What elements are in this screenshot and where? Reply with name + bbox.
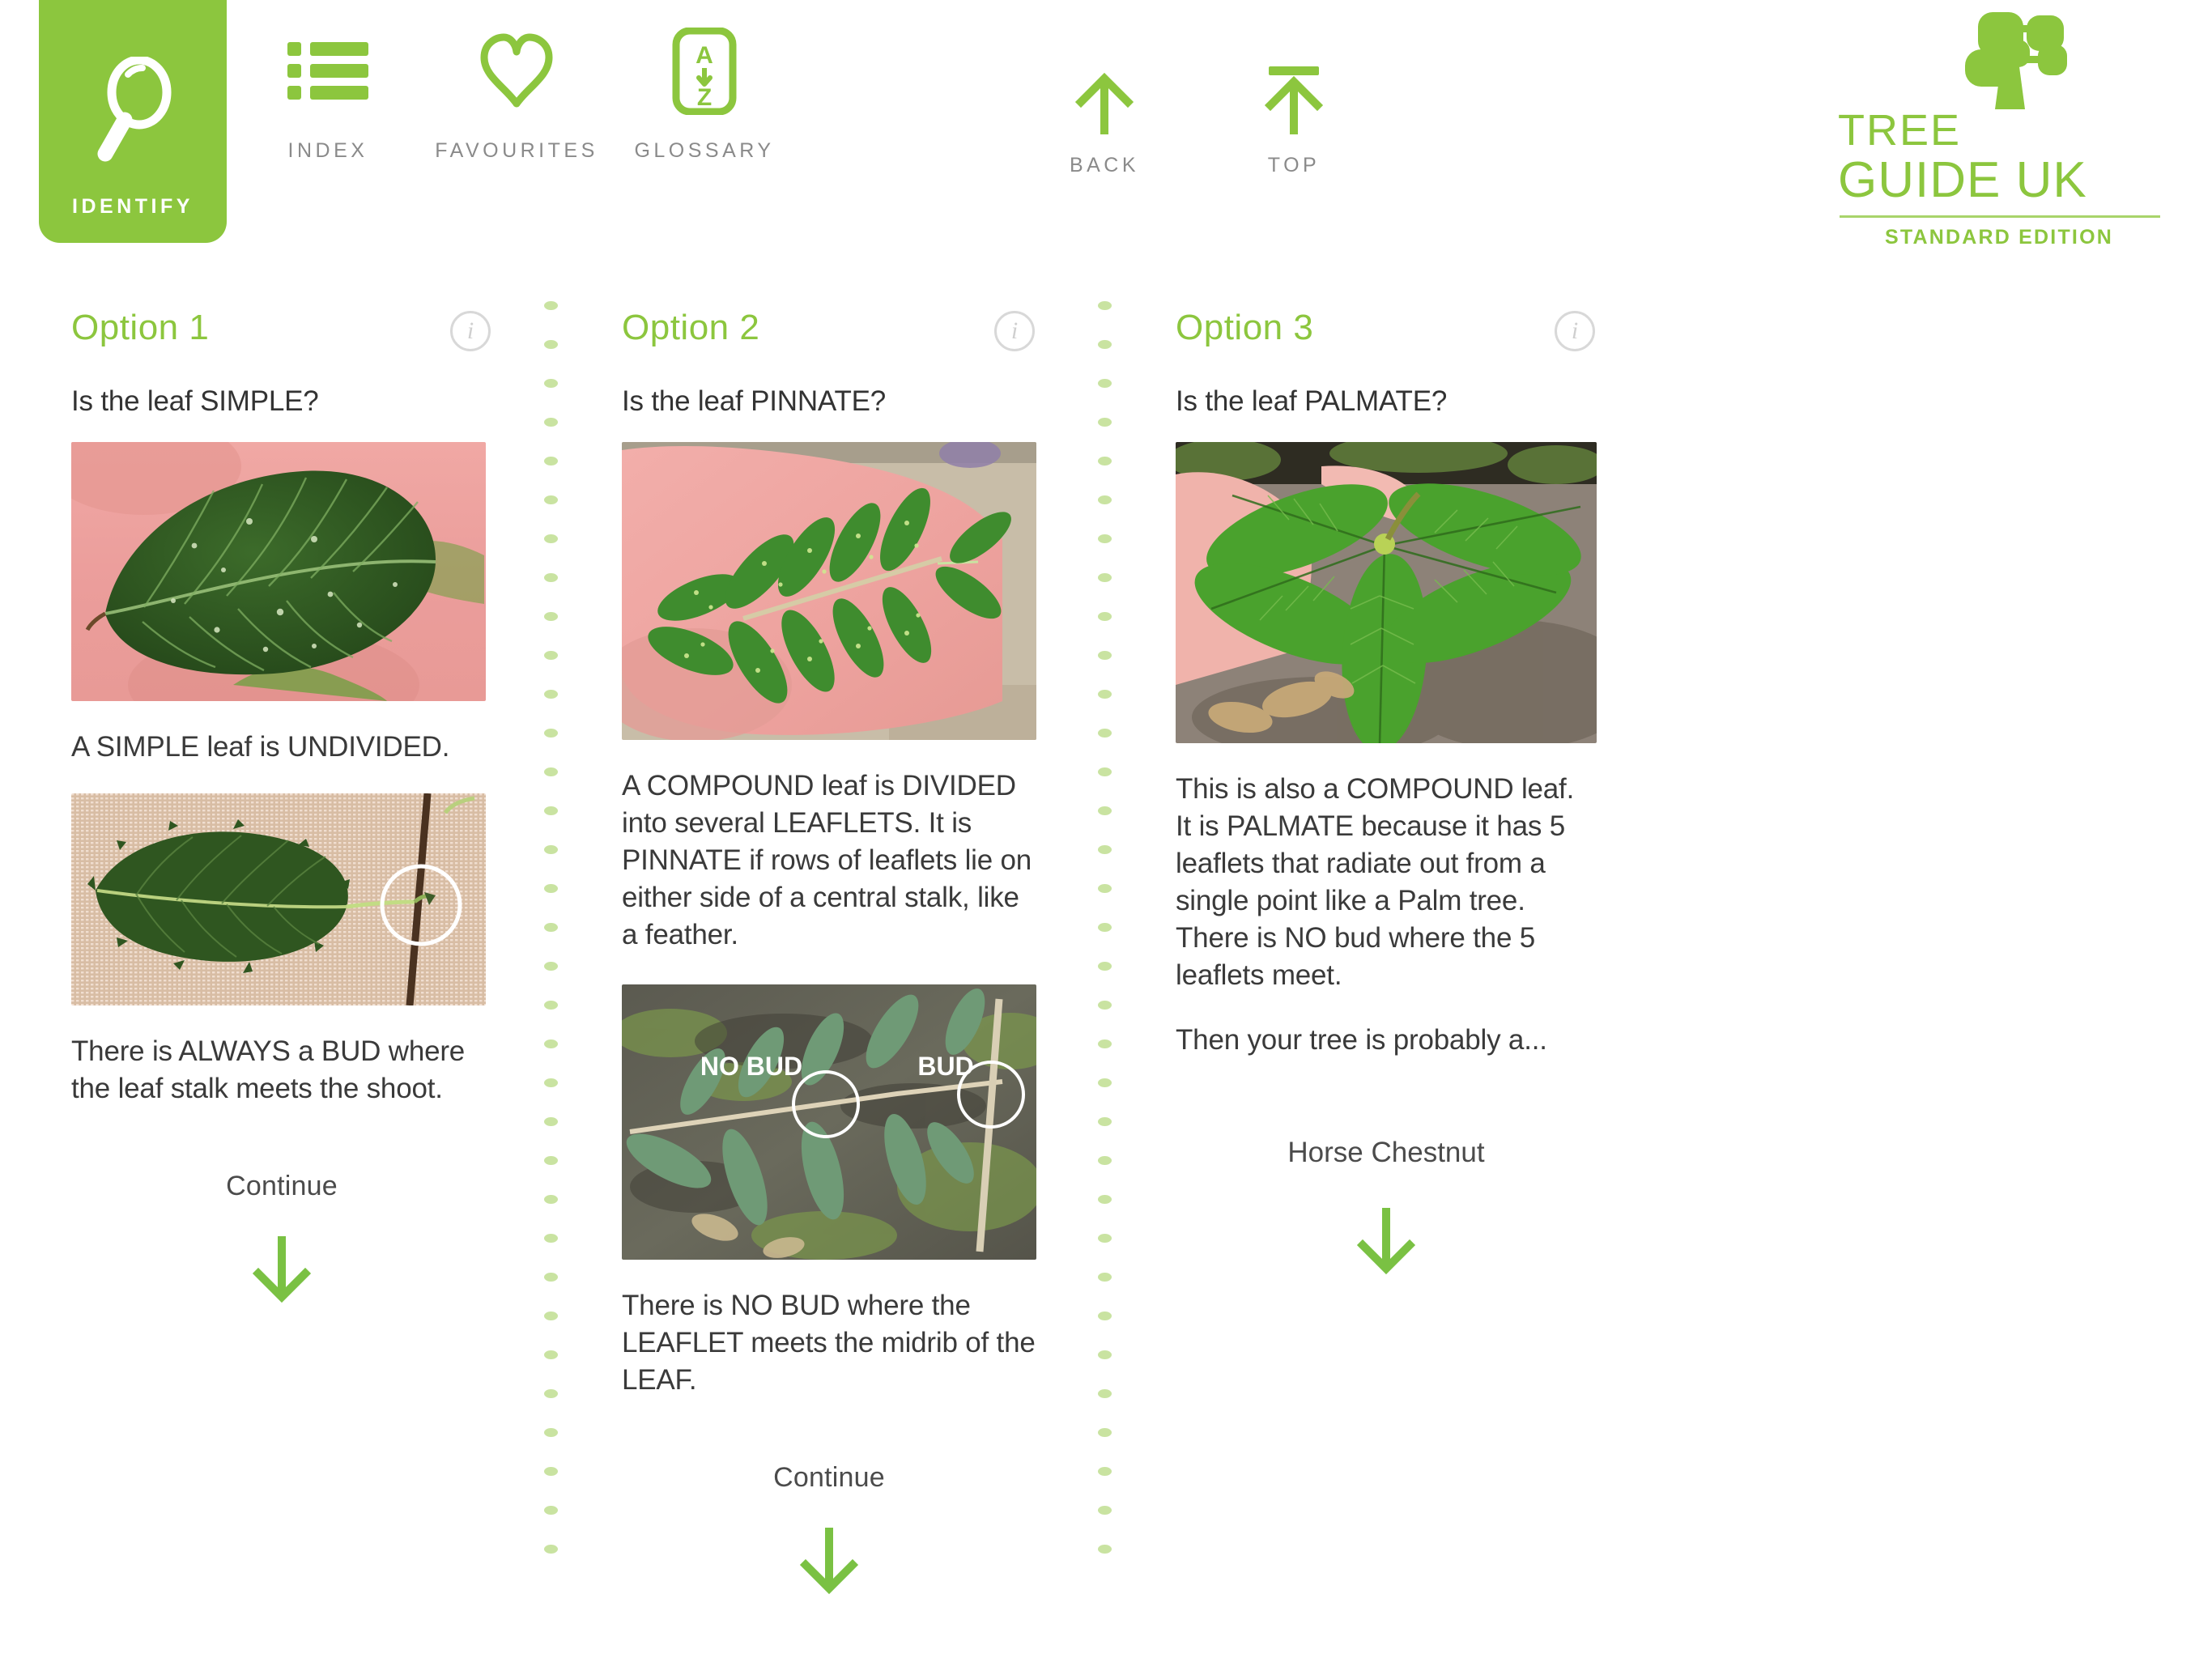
divider-dot [1098, 1350, 1112, 1359]
divider-dot [544, 573, 558, 582]
list-icon [287, 23, 368, 120]
divider-dot [1098, 379, 1112, 388]
option-3-caption-2: Then your tree is probably a... [1176, 1022, 1597, 1059]
divider-dot [544, 1156, 558, 1165]
divider-dot [544, 1234, 558, 1243]
info-icon[interactable]: i [450, 311, 491, 351]
option-2-continue-label: Continue [622, 1462, 1036, 1494]
divider-dot [544, 1312, 558, 1320]
divider-dot [1098, 457, 1112, 466]
divider-dot [544, 729, 558, 738]
nav-item-index-label: INDEX [288, 139, 368, 163]
a-z-icon: A Z [672, 23, 737, 120]
nav-button-top-label: TOP [1268, 154, 1320, 177]
option-3-result-name[interactable]: Horse Chestnut [1176, 1137, 1597, 1169]
leaf-stalk-bud-closeup-photo [71, 793, 486, 1005]
option-3-header: Option 3 i [1176, 308, 1597, 356]
divider-dot [1098, 301, 1112, 310]
option-3-caption-1: This is also a COMPOUND leaf. It is PALM… [1176, 771, 1597, 994]
option-1-title: Option 1 [71, 308, 209, 348]
info-icon[interactable]: i [994, 311, 1035, 351]
svg-text:A: A [696, 42, 713, 69]
pinnate-leaf-in-hand-photo [622, 442, 1036, 740]
divider-dot [544, 1001, 558, 1010]
palmate-leaf-in-hand-photo [1176, 442, 1597, 743]
divider-dot [1098, 923, 1112, 932]
divider-dot [1098, 1312, 1112, 1320]
divider-dot [1098, 806, 1112, 815]
option-3-column: Option 3 i Is the leaf PALMATE? [1176, 308, 1597, 1278]
option-2-caption-2: There is NO BUD where the LEAFLET meets … [622, 1287, 1036, 1399]
divider-dot [1098, 1506, 1112, 1515]
nav-item-glossary-label: GLOSSARY [634, 139, 774, 163]
divider-dot [544, 806, 558, 815]
divider-dot [544, 1428, 558, 1437]
nav-button-back[interactable]: BACK [1023, 50, 1185, 177]
divider-dot [1098, 612, 1112, 621]
divider-dot [1098, 651, 1112, 660]
option-2-question: Is the leaf PINNATE? [622, 384, 1036, 419]
divider-dot [544, 1273, 558, 1282]
nav-item-glossary[interactable]: A Z GLOSSARY [599, 23, 810, 163]
option-1-continue[interactable]: Continue [71, 1171, 492, 1306]
option-1-caption-2: There is ALWAYS a BUD where the leaf sta… [71, 1033, 492, 1107]
divider-dot [1098, 1001, 1112, 1010]
bud-photo-label: BUD [917, 1052, 973, 1081]
logo-divider [1840, 215, 2160, 218]
divider-dot [1098, 1156, 1112, 1165]
divider-dot [1098, 845, 1112, 854]
divider-dot [544, 651, 558, 660]
option-1-column: Option 1 i Is the leaf SIMPLE? [71, 308, 492, 1306]
divider-dot [1098, 1467, 1112, 1476]
divider-dot [544, 340, 558, 349]
option-1-caption-1: A SIMPLE leaf is UNDIVIDED. [71, 729, 492, 766]
divider-dot [1098, 767, 1112, 776]
divider-dot [1098, 1039, 1112, 1048]
divider-dot [1098, 884, 1112, 893]
arrow-down-icon [622, 1523, 1036, 1597]
option-2-column: Option 2 i Is the leaf PINNATE? [622, 308, 1036, 1597]
no-bud-photo-label: NO BUD [700, 1052, 802, 1081]
logo-line-2: GUIDE UK [1825, 154, 2173, 207]
simple-leaf-in-hand-photo [71, 442, 486, 701]
nav-button-back-label: BACK [1070, 154, 1139, 177]
divider-dot [544, 1545, 558, 1554]
divider-dot [544, 845, 558, 854]
divider-dot [544, 690, 558, 699]
nav-button-top[interactable]: TOP [1213, 50, 1375, 177]
divider-dot [1098, 1273, 1112, 1282]
divider-dot [1098, 729, 1112, 738]
option-2-continue[interactable]: Continue [622, 1462, 1036, 1597]
column-divider-2 [1098, 301, 1112, 1584]
divider-dot [544, 884, 558, 893]
svg-text:Z: Z [697, 84, 712, 111]
option-2-title: Option 2 [622, 308, 759, 348]
option-3-question: Is the leaf PALMATE? [1176, 384, 1597, 419]
option-1-question: Is the leaf SIMPLE? [71, 384, 492, 419]
divider-dot [544, 1389, 558, 1398]
divider-dot [1098, 573, 1112, 582]
pinnate-leaflet-no-bud-photo: NO BUD BUD [622, 984, 1036, 1260]
divider-dot [544, 418, 558, 427]
divider-dot [1098, 1195, 1112, 1204]
divider-dot [1098, 962, 1112, 971]
divider-dot [544, 457, 558, 466]
divider-dot [544, 1467, 558, 1476]
nav-tab-identify[interactable]: IDENTIFY [39, 0, 227, 243]
divider-dot [544, 1506, 558, 1515]
heart-icon [476, 23, 557, 120]
top-navigation-bar: IDENTIFY INDEX FAVOURITES [0, 0, 2212, 243]
nav-item-index[interactable]: INDEX [223, 23, 433, 163]
divider-dot [544, 301, 558, 310]
option-2-caption-1: A COMPOUND leaf is DIVIDED into several … [622, 767, 1036, 954]
nav-tab-identify-label: IDENTIFY [72, 195, 194, 219]
app-logo: TREE GUIDE UK STANDARD EDITION [1825, 8, 2173, 249]
divider-dot [544, 1195, 558, 1204]
logo-subtitle: STANDARD EDITION [1825, 226, 2173, 249]
divider-dot [1098, 340, 1112, 349]
option-3-title: Option 3 [1176, 308, 1313, 348]
divider-dot [544, 612, 558, 621]
divider-dot [544, 1350, 558, 1359]
info-icon[interactable]: i [1555, 311, 1595, 351]
option-1-header: Option 1 i [71, 308, 492, 356]
arrow-down-icon [71, 1231, 492, 1306]
nav-item-favourites-label: FAVOURITES [435, 139, 598, 163]
divider-dot [1098, 1428, 1112, 1437]
option-2-header: Option 2 i [622, 308, 1036, 356]
nav-item-favourites[interactable]: FAVOURITES [411, 23, 622, 163]
divider-dot [1098, 1117, 1112, 1126]
divider-dot [544, 923, 558, 932]
divider-dot [544, 534, 558, 543]
divider-dot [544, 379, 558, 388]
divider-dot [1098, 1234, 1112, 1243]
divider-dot [544, 495, 558, 504]
arrow-up-to-line-icon [1259, 50, 1329, 139]
divider-dot [544, 1078, 558, 1087]
divider-dot [1098, 534, 1112, 543]
divider-dot [544, 767, 558, 776]
arrow-up-icon [1070, 50, 1139, 139]
divider-dot [1098, 418, 1112, 427]
divider-dot [1098, 495, 1112, 504]
arrow-down-icon[interactable] [1176, 1203, 1597, 1278]
magnifier-icon [87, 57, 178, 168]
divider-dot [544, 1117, 558, 1126]
divider-dot [1098, 690, 1112, 699]
divider-dot [1098, 1545, 1112, 1554]
divider-dot [544, 1039, 558, 1048]
tree-icon [1825, 8, 2173, 113]
column-divider-1 [544, 301, 559, 1584]
divider-dot [1098, 1389, 1112, 1398]
divider-dot [1098, 1078, 1112, 1087]
divider-dot [544, 962, 558, 971]
option-1-continue-label: Continue [71, 1171, 492, 1202]
